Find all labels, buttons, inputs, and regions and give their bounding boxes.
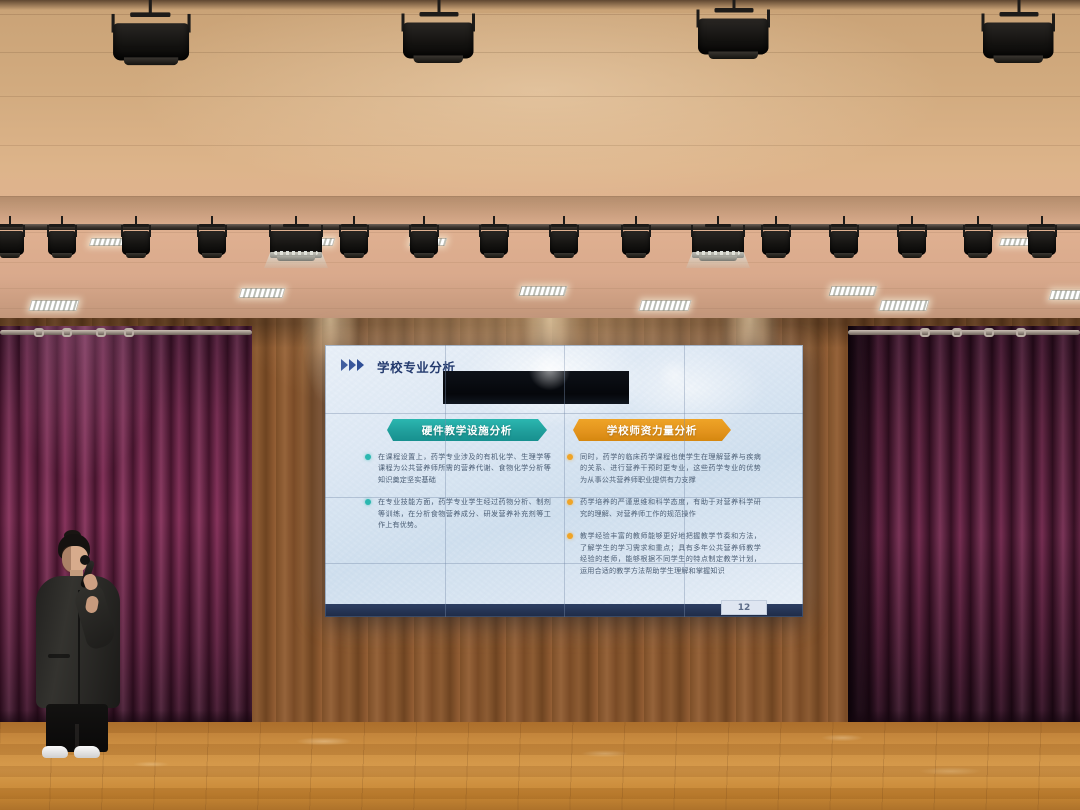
curtain-highlight xyxy=(20,326,171,487)
triple-chevron-right-icon xyxy=(341,359,364,371)
ceiling xyxy=(0,0,1080,322)
video-wall-display[interactable]: 学校专业分析 硬件教学设施分析 学校师资力量分析 在课程设置上，药学专业涉及的有… xyxy=(325,345,803,617)
ceiling-glow xyxy=(130,13,951,206)
curtain-ring xyxy=(124,328,134,337)
bullet-text: 在专业技能方面，药学专业学生经过药物分析、制剂等训练，在分析食物营养成分、研发营… xyxy=(378,496,551,530)
face-shadow xyxy=(62,546,71,573)
bullet-text: 同时，药学的临床药学课程也使学生在理解营养与疾病的关系、进行营养干预时更专业，这… xyxy=(580,451,761,485)
bullet-item: 教学经验丰富的教师能够更好地把握教学节奏和方法，了解学生的学习需求和重点；具有多… xyxy=(565,530,761,576)
auditorium-scene: 学校专业分析 硬件教学设施分析 学校师资力量分析 在课程设置上，药学专业涉及的有… xyxy=(0,0,1080,810)
bullet-item: 药学培养的严谨思维和科学态度，有助于对营养科学研究的理解、对营养师工作的规范操作 xyxy=(565,496,761,519)
curtain-rod-right xyxy=(848,330,1080,335)
shoe-left xyxy=(42,746,68,758)
bullet-dot-icon xyxy=(567,533,573,539)
column-faculty-bullets: 同时，药学的临床药学课程也使学生在理解营养与疾病的关系、进行营养干预时更专业，这… xyxy=(565,451,761,587)
column-banner-faculty: 学校师资力量分析 xyxy=(573,419,731,441)
bullet-text: 在课程设置上，药学专业涉及的有机化学、生理学等课程为公共营养师所需的营养代谢、食… xyxy=(378,451,551,485)
shoe-right xyxy=(74,746,100,758)
bullet-text: 教学经验丰富的教师能够更好地把握教学节奏和方法，了解学生的学习需求和重点；具有多… xyxy=(580,530,761,576)
stage-floor xyxy=(0,722,1080,810)
screen-black-artifact xyxy=(443,371,629,404)
slide-page-number: 12 xyxy=(721,600,767,615)
curtain-shadow-edge xyxy=(848,326,882,728)
curtain-ring xyxy=(1016,328,1026,337)
curtain-ring xyxy=(34,328,44,337)
ceiling-top-shadow xyxy=(0,0,1080,10)
floor-reflections xyxy=(0,722,1080,810)
microphone-head-icon xyxy=(80,555,90,565)
curtain-ring xyxy=(952,328,962,337)
curtain-ring xyxy=(62,328,72,337)
bullet-item: 同时，药学的临床药学课程也使学生在理解营养与疾病的关系、进行营养干预时更专业，这… xyxy=(565,451,761,485)
bullet-text: 药学培养的严谨思维和科学态度，有助于对营养科学研究的理解、对营养师工作的规范操作 xyxy=(580,496,761,519)
curtain-ring xyxy=(920,328,930,337)
column-banner-hardware: 硬件教学设施分析 xyxy=(387,419,547,441)
bullet-dot-icon xyxy=(567,454,573,460)
curtain-ring xyxy=(96,328,106,337)
curtain-ring xyxy=(984,328,994,337)
coat-pocket xyxy=(48,654,70,658)
curtain-fabric xyxy=(848,326,1080,728)
bullet-item: 在课程设置上，药学专业涉及的有机化学、生理学等课程为公共营养师所需的营养代谢、食… xyxy=(363,451,551,485)
bullet-dot-icon xyxy=(567,499,573,505)
bullet-dot-icon xyxy=(365,454,371,460)
stage-curtain-right xyxy=(848,326,1080,728)
bullet-item: 在专业技能方面，药学专业学生经过药物分析、制剂等训练，在分析食物营养成分、研发营… xyxy=(363,496,551,530)
presenter xyxy=(22,534,134,760)
bullet-dot-icon xyxy=(365,499,371,505)
